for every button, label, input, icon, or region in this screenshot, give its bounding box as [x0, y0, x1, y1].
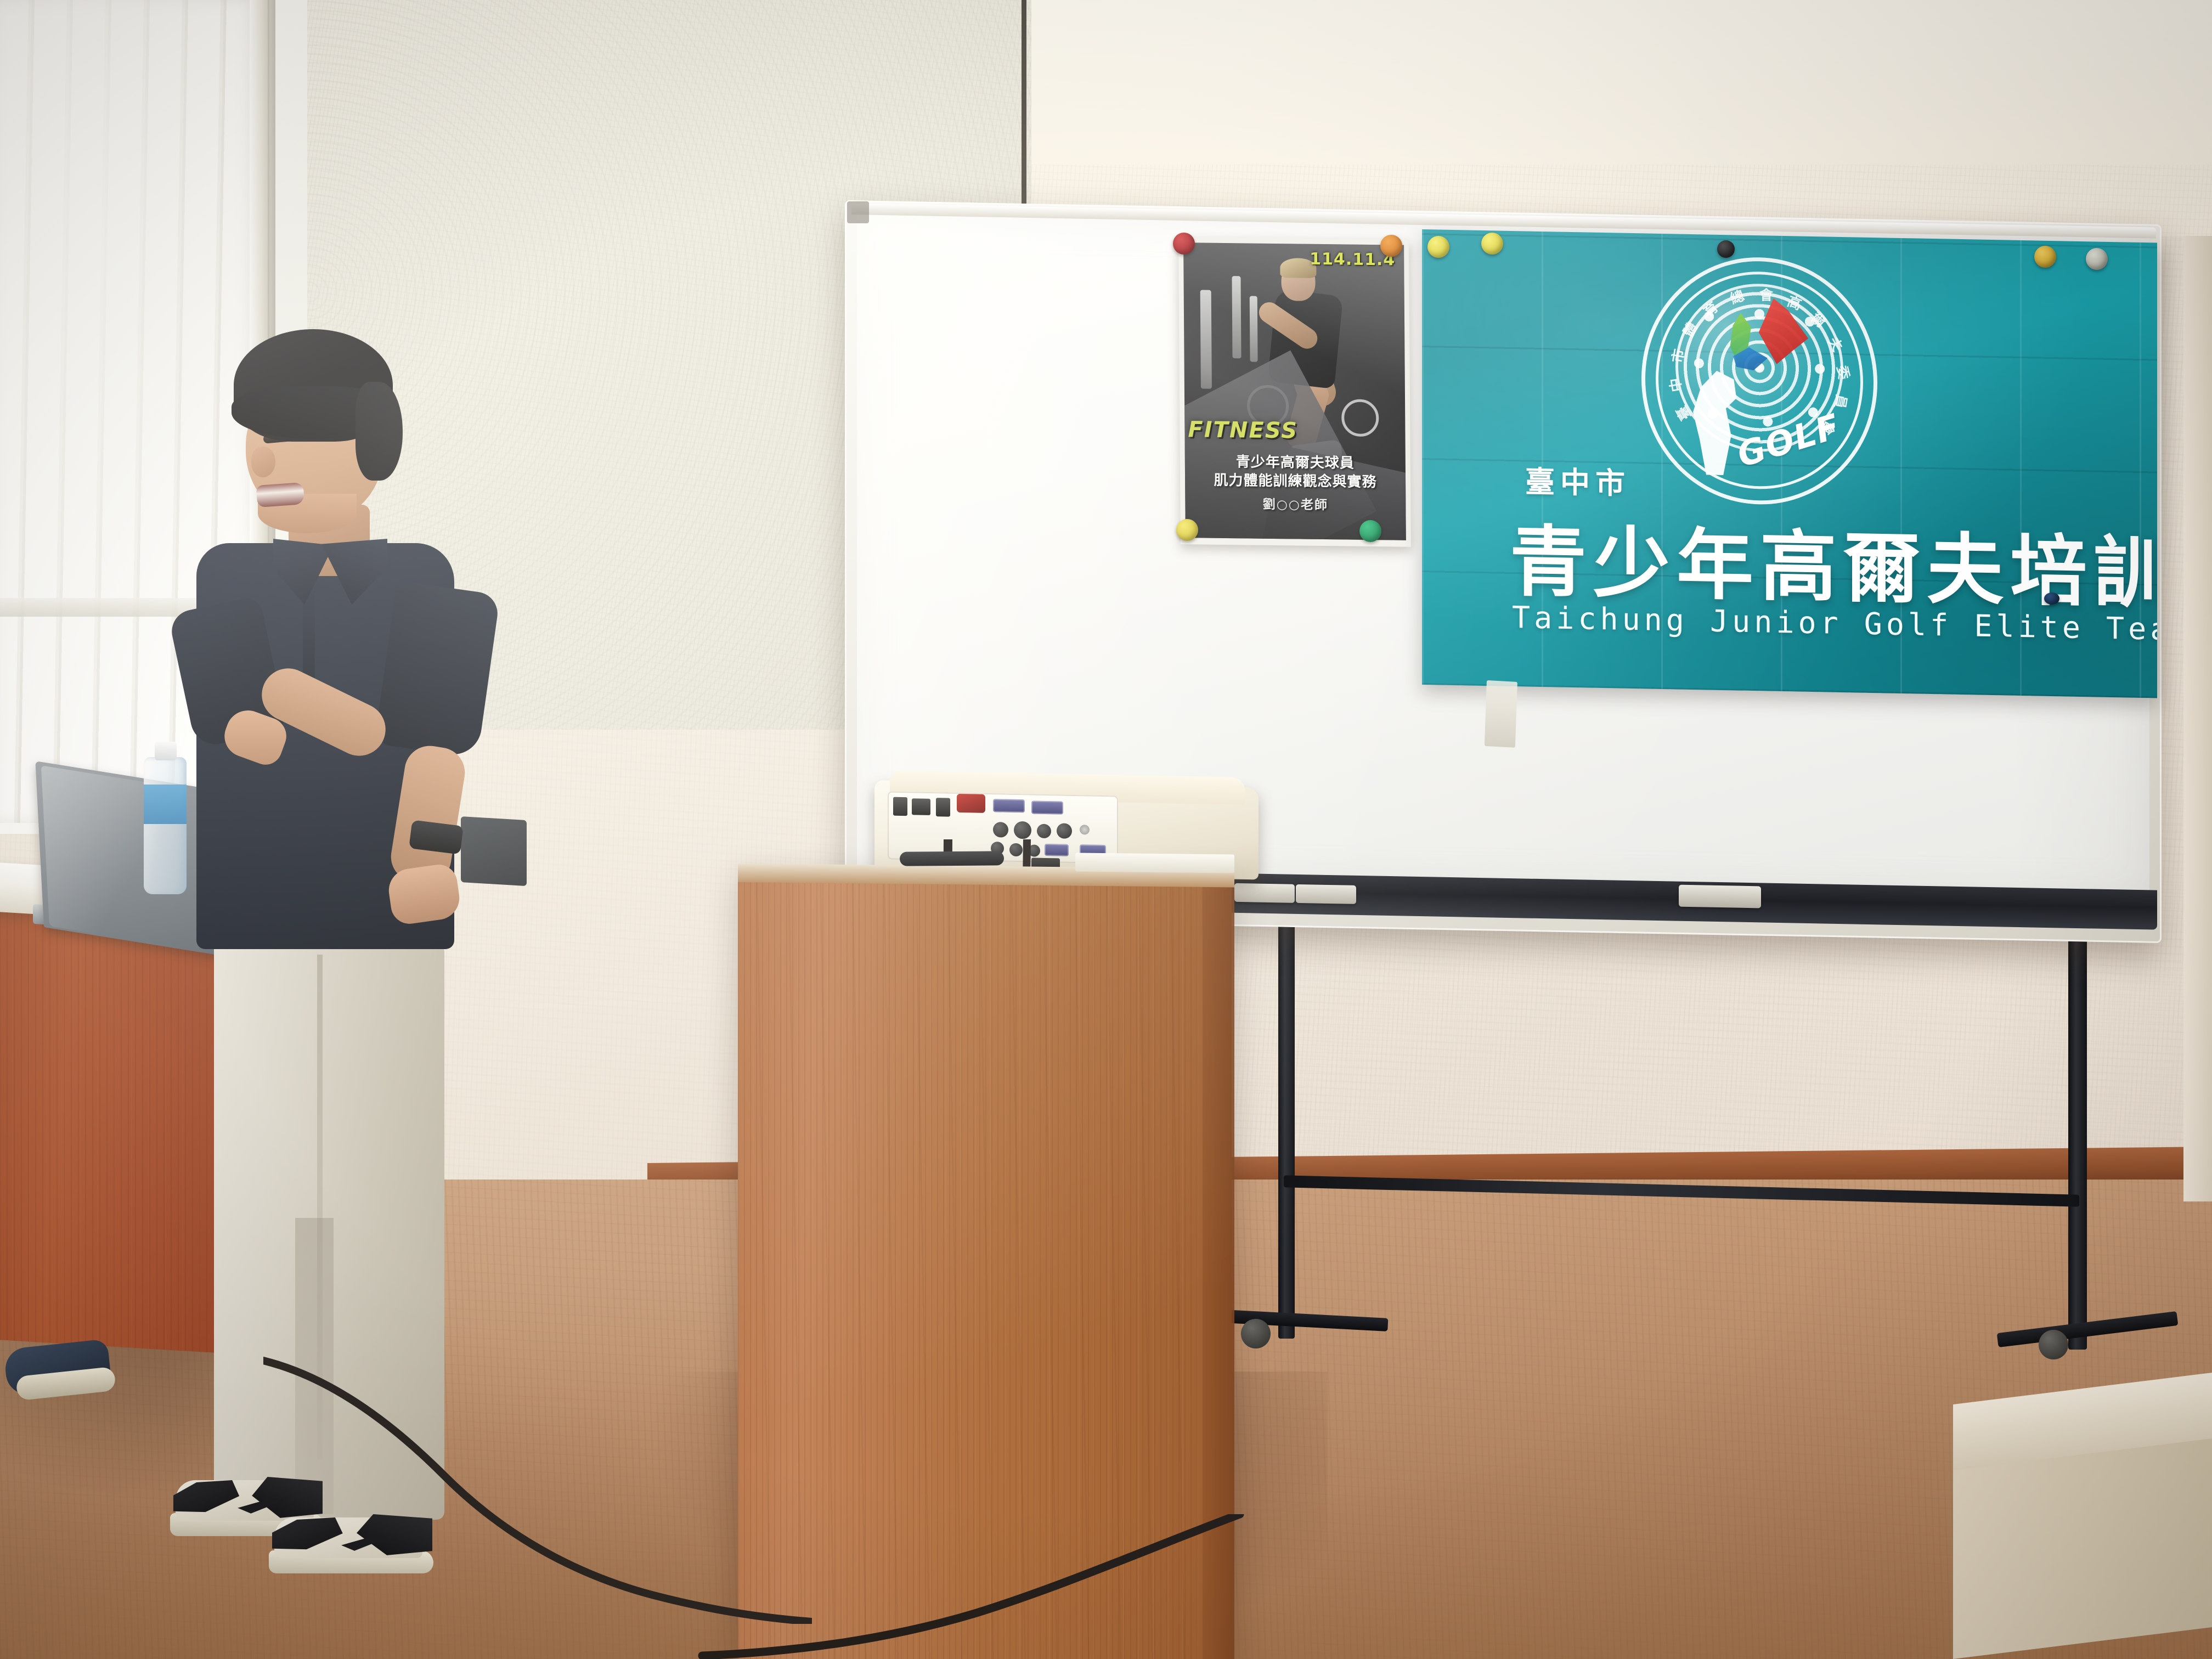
projector-port-usb [912, 798, 930, 815]
photo-scene: 114.11.4 FITNESS 青少年高爾夫球員 肌力體能訓練觀念與實務 劉○… [0, 0, 2212, 1659]
logo-ring-char: 會 [1817, 417, 1841, 439]
marker-clip-2 [1296, 884, 1356, 904]
presenter-nose [251, 447, 275, 477]
logo-ring-char: 委 [1833, 364, 1855, 381]
logo-ring-char: 體 [1678, 318, 1702, 340]
presenter-hair-side [356, 382, 403, 481]
logo-ring-char: 夫 [1824, 333, 1848, 354]
green-magnet[interactable] [1359, 520, 1381, 542]
power-plug[interactable] [957, 794, 985, 813]
projector-audio-jack-1 [993, 822, 1008, 838]
golf-team-banner[interactable]: GOLF 臺中市體育總會高爾夫委員會 臺中市 青少年高爾夫培訓隊 Taichun… [1422, 229, 2157, 698]
fitness-poster[interactable]: 114.11.4 FITNESS 青少年高爾夫球員 肌力體能訓練觀念與實務 劉○… [1178, 237, 1411, 547]
water-bottle-cap[interactable] [155, 742, 177, 760]
water-bottle-label [144, 785, 187, 824]
floor-cable-lower [592, 1514, 1251, 1659]
grey-magnet-banner[interactable] [2086, 248, 2108, 270]
banner-hanging-strip [1485, 680, 1517, 748]
projector-port-vga-in [993, 799, 1025, 812]
microphone-on-lectern[interactable] [900, 851, 1004, 866]
logo-circular-text: 臺中市體育總會高爾夫委員會 [1641, 253, 1877, 504]
projector-port-hdmi [936, 798, 950, 816]
logo-ring-char: 育 [1699, 297, 1722, 321]
stand-caster-left [1241, 1319, 1271, 1348]
gold-magnet-banner[interactable] [2034, 246, 2056, 268]
logo-ring-char: 會 [1759, 284, 1773, 304]
poster-image: 114.11.4 FITNESS 青少年高爾夫球員 肌力體能訓練觀念與實務 劉○… [1183, 242, 1406, 540]
golf-association-logo: GOLF 臺中市體育總會高爾夫委員會 [1641, 253, 1877, 504]
logo-ring-char: 高 [1785, 291, 1805, 314]
paper-on-lectern[interactable] [1075, 853, 1234, 873]
logo-ring-char: 臺 [1671, 403, 1695, 424]
logo-ring-char: 爾 [1807, 308, 1830, 332]
logo-ring-char: 總 [1727, 285, 1747, 308]
banner-city-label: 臺中市 [1525, 457, 1630, 503]
orange-magnet[interactable] [1380, 235, 1402, 257]
eraser-clip [1679, 885, 1761, 909]
logo-ring-char: 員 [1831, 393, 1853, 410]
yellow-magnet-banner-2[interactable] [1481, 233, 1503, 255]
poster-line-3: 劉○○老師 [1185, 493, 1406, 514]
water-bottle[interactable] [144, 757, 187, 894]
presenter-mouth [256, 482, 305, 507]
whiteboard-stand-post-left [1278, 900, 1295, 1339]
black-magnet-banner[interactable] [1717, 240, 1735, 258]
poster-line-2: 肌力體能訓練觀念與實務 [1185, 469, 1406, 492]
logo-ring-char: 市 [1667, 347, 1689, 364]
projector-port-vga-out [1031, 800, 1063, 814]
projector-port-lan [893, 797, 907, 816]
presenter [181, 329, 598, 1492]
presenter-right-sleeve [374, 580, 500, 758]
projector-audio-jack-3 [1037, 824, 1051, 838]
logo-ring-char: 中 [1664, 377, 1686, 393]
whiteboard-corner-bracket-tl [847, 201, 869, 223]
poster-brand-text: FITNESS [1188, 417, 1298, 443]
projector-audio-jack-4 [1057, 823, 1072, 839]
yellow-magnet-banner-1[interactable] [1427, 236, 1449, 258]
projector-audio-jack-2 [1014, 821, 1031, 839]
right-wall-trim [2183, 236, 2212, 1201]
marker-clip-1 [1234, 883, 1295, 903]
navy-magnet-banner[interactable] [2044, 592, 2059, 605]
yellow-magnet-poster[interactable] [1176, 519, 1198, 541]
red-magnet[interactable] [1173, 233, 1195, 255]
stand-caster-right [2039, 1330, 2068, 1359]
projector-indicator [1080, 825, 1090, 834]
